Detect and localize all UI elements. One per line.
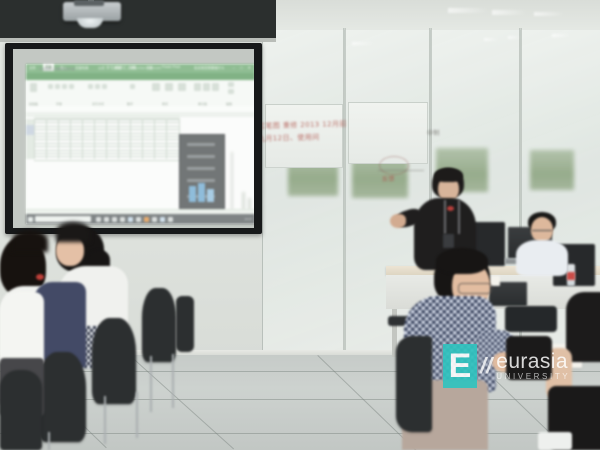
ribbon-icon-align-right	[102, 84, 107, 89]
wall-upper-band	[276, 0, 600, 34]
ribbon-icon-sort-filter	[228, 89, 234, 94]
projection-screen-surface: 学生成绩汇总表.xlsx - Excel – □ ✕ 文件 开始 插入 页面布局…	[13, 49, 254, 228]
excel-tab-tellme: 告诉我您想要做什么	[194, 65, 225, 70]
ceiling-band-edge	[0, 38, 276, 42]
whiteboard-panel-right	[348, 102, 428, 164]
whiteboard-note-2: 九月12日、使用间	[258, 132, 320, 144]
watermark: E // eurasia UNIVERSITY	[443, 344, 570, 388]
ceiling-light-reflection-3	[534, 12, 564, 16]
ribbon-icon-table-style	[165, 83, 173, 91]
taskbar-icon-explorer	[104, 217, 109, 222]
whiteboard-circle-annotation	[379, 156, 409, 175]
audience-front-left-torso	[0, 292, 44, 364]
taskbar-icon-taskview	[96, 217, 101, 222]
foreground-woman-chair	[396, 336, 432, 432]
chart-bar-1	[189, 186, 196, 202]
start-button-icon	[28, 217, 33, 222]
excel-tab-review: 审阅	[130, 65, 137, 70]
excel-window: 学生成绩汇总表.xlsx - Excel – □ ✕ 文件 开始 插入 页面布局…	[26, 64, 254, 224]
taskbar-search-box	[35, 216, 91, 222]
excel-data-table	[34, 119, 180, 159]
empty-chair-1-leg-1	[150, 356, 152, 412]
taskbar-icon-mail	[120, 217, 125, 222]
ribbon-icon-insert-cells	[194, 83, 201, 91]
presenter-hair-front	[434, 168, 463, 182]
excel-tab-formulas: 公式	[98, 65, 105, 70]
audience-second-left-chair-leg-1	[48, 432, 50, 450]
audience-back-left-chair-leg-1	[104, 396, 106, 444]
presenter-badge	[443, 234, 454, 248]
ribbon-icon-cell-style	[178, 83, 186, 91]
empty-chair-1-leg-2	[172, 354, 174, 408]
audience-back-left-chair	[92, 318, 136, 404]
taskbar-icon-store	[128, 217, 133, 222]
taskbar-icon-folder	[168, 217, 173, 222]
excel-tab-layout: 页面布局	[75, 65, 89, 70]
floor-grout-diag-1	[129, 355, 234, 449]
floor-grout-line-2	[0, 399, 600, 400]
ribbon-icon-italic	[62, 84, 67, 89]
ribbon-icon-bold	[55, 84, 60, 89]
taskbar-icon-active-app	[144, 217, 149, 222]
presenter-hand	[390, 214, 406, 228]
audience-back-left-chair-leg-2	[136, 392, 138, 438]
ceiling-band	[0, 0, 276, 40]
ribbon-icon-align-left	[88, 84, 93, 89]
projector-top-panel	[74, 0, 104, 6]
ribbon-icon-format-cells	[212, 83, 219, 91]
audience-head-silhouette-2	[12, 230, 48, 252]
excel-chart-elements-pane	[179, 134, 225, 212]
watermark-logo-letter: E	[449, 349, 472, 383]
excel-tab-file: 文件	[29, 65, 36, 70]
audience-second-left-chair	[38, 352, 86, 442]
ribbon-icon-delete-cells	[203, 83, 210, 91]
ribbon-icon-paste	[30, 83, 37, 92]
ribbon-icon-number-format	[130, 84, 135, 89]
whiteboard-note-3: 反馈	[382, 174, 395, 183]
projection-screen-frame: 学生成绩汇总表.xlsx - Excel – □ ✕ 文件 开始 插入 页面布局…	[5, 43, 262, 234]
chart-bar-3	[207, 189, 214, 202]
ceiling-light-reflection-5	[484, 38, 498, 41]
water-bottle-2-label	[567, 272, 575, 280]
watermark-brand: eurasia	[496, 351, 570, 372]
watermark-subtitle: UNIVERSITY	[496, 373, 570, 381]
ceiling-light-reflection-6	[508, 36, 520, 39]
right-edge-white-item	[538, 432, 572, 450]
ceiling-light-reflection-2	[492, 10, 526, 15]
photo-scene: 红笔图 重修 2013 12月前 九月12日、使用间 反馈 中制 学生成绩汇总表…	[0, 0, 600, 450]
taskbar-icon-word	[152, 217, 157, 222]
window-foliage-4	[530, 150, 574, 190]
ribbon-icon-underline	[69, 84, 74, 89]
chart-bar-2	[198, 183, 205, 202]
empty-chair-2	[176, 296, 194, 352]
audience-head-silhouette-1	[56, 222, 90, 242]
whiteboard-underline	[378, 170, 424, 171]
ribbon-icon-align-center	[95, 84, 100, 89]
foreground-woman-glasses	[458, 283, 492, 294]
watermark-text-block: eurasia UNIVERSITY	[496, 351, 570, 381]
excel-ribbon-tabs	[26, 73, 254, 80]
audience-second-left-red-accent	[36, 274, 44, 280]
laptop-user-glasses	[532, 230, 552, 235]
watermark-slash: //	[480, 353, 492, 379]
excel-selected-rows	[26, 125, 34, 135]
excel-tab-view: 视图	[146, 65, 153, 70]
taskbar-icon-edge	[112, 217, 117, 222]
ribbon-icon-autosum	[228, 82, 234, 87]
presenter-collar-accent	[447, 206, 454, 211]
worksheet-chart-ghost-2	[242, 192, 245, 210]
right-edge-torso	[566, 292, 600, 362]
worksheet-chart-ghost-1	[231, 152, 233, 210]
ribbon-icon-font-a	[48, 84, 53, 89]
excel-tab-powerpivot: Power Pivot	[162, 65, 180, 69]
presenter-lanyard	[444, 200, 460, 234]
excel-window-buttons: – □ ✕	[233, 65, 253, 70]
windows-taskbar: 14:27	[26, 214, 254, 224]
taskbar-icon-excel	[160, 217, 165, 222]
whiteboard-note-4: 中制	[427, 128, 440, 137]
audience-front-left-chair	[0, 370, 42, 450]
taskbar-clock: 14:27	[244, 217, 252, 221]
glass-mullion-1	[343, 28, 346, 362]
watermark-logo-e: E	[443, 344, 477, 388]
desk-bag	[505, 306, 557, 332]
ceiling-light-reflection-4	[352, 42, 374, 45]
taskbar-search-placeholder: 在这里输入你要搜索的内容	[39, 67, 75, 71]
foreground-woman-hair-top	[436, 248, 488, 274]
empty-chair-1	[142, 288, 176, 362]
ceiling-light-reflection-1	[448, 8, 488, 13]
laptop-user-torso	[516, 240, 568, 276]
ceiling-light-reflection-7	[552, 34, 570, 37]
taskbar-icon-chrome	[136, 217, 141, 222]
excel-tab-data: 数据	[114, 65, 121, 70]
ribbon-icon-conditional-format	[152, 83, 160, 91]
